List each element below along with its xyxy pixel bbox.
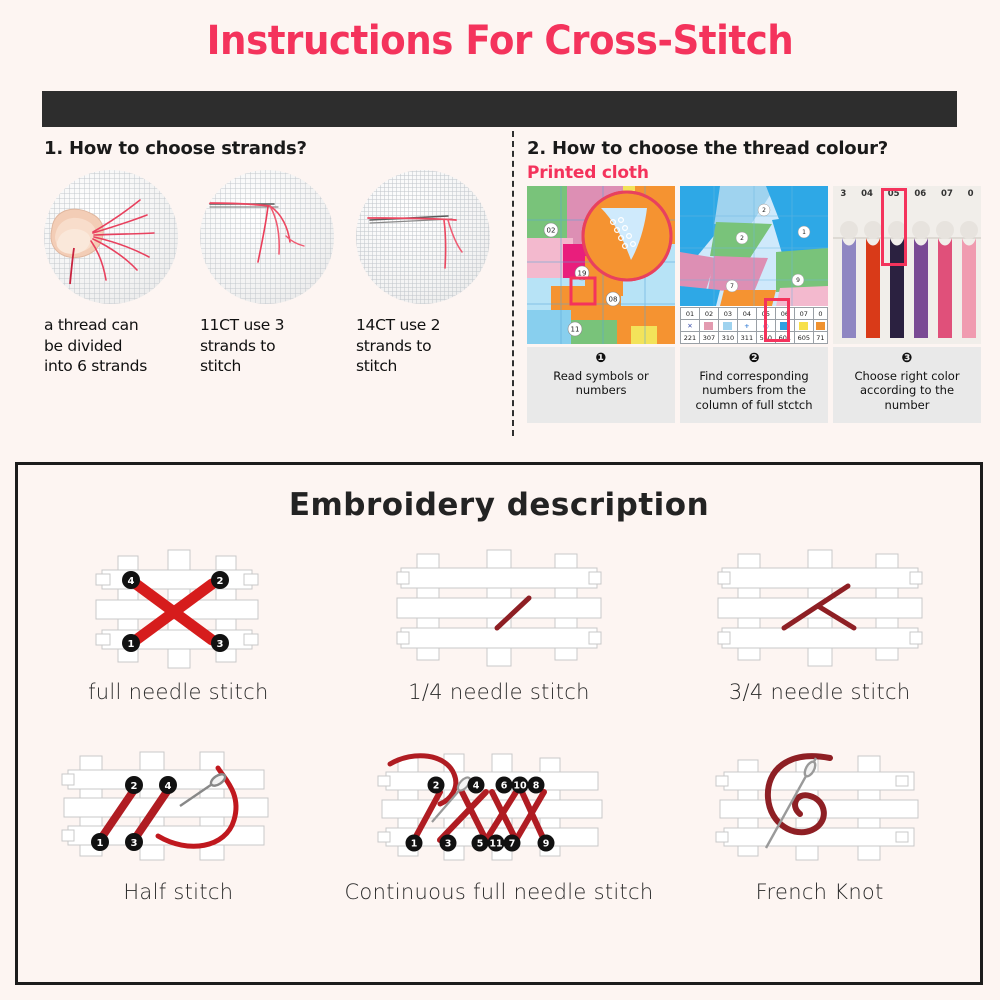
legend-index-cell: 04 xyxy=(737,308,756,320)
svg-text:7: 7 xyxy=(730,283,734,290)
svg-text:2: 2 xyxy=(762,207,766,214)
skein-body xyxy=(914,238,928,338)
french-knot-icon xyxy=(710,741,930,876)
stitch-caption-three-quarter-needle: 3/4 needle stitch xyxy=(729,680,911,704)
half-stitch-icon: 2 4 1 3 xyxy=(58,741,298,876)
three-strands-on-aida-icon xyxy=(200,170,334,304)
skein-highlight-box xyxy=(881,188,907,266)
svg-text:9: 9 xyxy=(543,838,550,849)
svg-text:2: 2 xyxy=(131,781,138,792)
legend-symbol-cell: ✕ xyxy=(681,320,700,332)
printed-cloth-label: Printed cloth xyxy=(527,163,649,183)
svg-text:7: 7 xyxy=(509,838,516,849)
skein-body xyxy=(962,238,976,338)
svg-text:1: 1 xyxy=(128,639,135,650)
stitch-card-quarter-needle-stitch: 1/4 needle stitch xyxy=(339,541,660,741)
skein-body xyxy=(938,238,952,338)
legend-number-cell: 310 xyxy=(718,332,737,344)
skein-label: 04 xyxy=(861,189,873,199)
skein-knob xyxy=(840,221,858,239)
step-number-3: ❸ xyxy=(901,352,912,365)
stitch-caption-french-knot: French Knot xyxy=(756,880,884,904)
strand-examples: a thread can be divided into 6 strands xyxy=(44,170,494,377)
skein-label: 07 xyxy=(941,189,953,199)
svg-text:2: 2 xyxy=(433,780,440,791)
svg-text:19: 19 xyxy=(578,270,587,278)
legend-index-row: 010203040506070 xyxy=(681,308,828,320)
legend-symbol-cell xyxy=(794,320,813,332)
legend-number-row: 22130731031155060160571 xyxy=(681,332,828,344)
step-text-3: Choose right color according to the numb… xyxy=(833,369,981,412)
stitch-caption-half-stitch: Half stitch xyxy=(123,880,233,904)
skein-label: 06 xyxy=(914,189,926,199)
skein-knob xyxy=(936,221,954,239)
continuous-full-needle-stitch-icon: 2 4 6 10 8 1 3 5 11 7 9 xyxy=(374,741,624,876)
skein-body xyxy=(866,238,880,338)
stitch-caption-full-needle: full needle stitch xyxy=(88,680,268,704)
symbol-legend-chart-icon: 2 2 1 7 9 010203040506070 ✕+○ 2213073103… xyxy=(680,186,828,344)
legend-index-cell: 0 xyxy=(813,308,827,320)
legend-number-cell: 71 xyxy=(813,332,827,344)
svg-text:10: 10 xyxy=(513,780,527,791)
stitch-card-french-knot: French Knot xyxy=(659,741,980,941)
legend-index-cell: 02 xyxy=(699,308,718,320)
strand-caption-3: 14CT use 2 strands to stitch xyxy=(356,315,490,377)
svg-text:9: 9 xyxy=(796,277,800,284)
svg-text:08: 08 xyxy=(609,296,618,304)
legend-symbol-cell xyxy=(718,320,737,332)
header-dark-bar xyxy=(42,91,957,127)
section-divider xyxy=(512,131,514,436)
svg-text:11: 11 xyxy=(489,838,502,849)
svg-text:5: 5 xyxy=(477,838,484,849)
stitch-card-continuous-full-needle-stitch: 2 4 6 10 8 1 3 5 11 7 9 xyxy=(339,741,660,941)
svg-text:11: 11 xyxy=(571,326,580,334)
embroidery-description-panel: Embroidery description xyxy=(15,462,983,985)
legend-symbol-cell: + xyxy=(737,320,756,332)
thread-step-2: 2 2 1 7 9 010203040506070 ✕+○ 2213073103… xyxy=(680,186,828,423)
strand-caption-2: 11CT use 3 strands to stitch xyxy=(200,315,334,377)
legend-number-cell: 311 xyxy=(737,332,756,344)
legend-index-cell: 03 xyxy=(718,308,737,320)
step-number-1: ❶ xyxy=(595,352,606,365)
strand-item-2: 11CT use 3 strands to stitch xyxy=(200,170,334,377)
svg-text:2: 2 xyxy=(217,576,224,587)
quarter-needle-stitch-icon xyxy=(389,541,609,676)
svg-text:1: 1 xyxy=(411,838,418,849)
svg-text:8: 8 xyxy=(533,780,540,791)
legend-number-cell: 307 xyxy=(699,332,718,344)
page-title: Instructions For Cross-Stitch xyxy=(35,18,965,64)
svg-text:3: 3 xyxy=(131,838,138,849)
svg-text:3: 3 xyxy=(217,639,224,650)
thread-colour-steps: 02 19 08 11 ❶ Read symbols or numbers xyxy=(527,186,982,423)
skein-label: 0 xyxy=(968,189,974,199)
section2-heading: 2. How to choose the thread colour? xyxy=(527,138,888,159)
stitch-grid: 4 2 1 3 full needle stitch xyxy=(18,541,980,941)
strand-item-1: a thread can be divided into 6 strands xyxy=(44,170,178,377)
legend-colour-swatch xyxy=(704,322,713,330)
section1-heading: 1. How to choose strands? xyxy=(44,138,307,159)
thread-step-3-caption: ❸ Choose right color according to the nu… xyxy=(833,347,981,423)
two-strands-on-aida-icon xyxy=(356,170,490,304)
legend-index-cell: 07 xyxy=(794,308,813,320)
step-number-2: ❷ xyxy=(748,352,759,365)
svg-text:1: 1 xyxy=(97,838,104,849)
stitch-caption-continuous-full-needle: Continuous full needle stitch xyxy=(344,880,653,904)
embroidery-title: Embroidery description xyxy=(18,487,980,523)
svg-text:2: 2 xyxy=(740,235,744,242)
svg-text:1: 1 xyxy=(802,229,806,236)
instruction-sheet: Instructions For Cross-Stitch 1. How to … xyxy=(0,0,1000,1000)
legend-symbol-cell xyxy=(813,320,827,332)
legend-colour-swatch xyxy=(799,322,808,330)
legend-symbol-cell xyxy=(699,320,718,332)
svg-text:4: 4 xyxy=(128,576,135,587)
legend-number-cell: 221 xyxy=(681,332,700,344)
skein-body xyxy=(842,238,856,338)
thread-step-1: 02 19 08 11 ❶ Read symbols or numbers xyxy=(527,186,675,423)
strand-caption-1: a thread can be divided into 6 strands xyxy=(44,315,178,377)
svg-text:3: 3 xyxy=(445,838,452,849)
legend-symbol-row: ✕+○ xyxy=(681,320,828,332)
strand-item-3: 14CT use 2 strands to stitch xyxy=(356,170,490,377)
three-quarter-needle-stitch-icon xyxy=(710,541,930,676)
full-needle-stitch-icon: 4 2 1 3 xyxy=(88,541,268,676)
skein-knob xyxy=(864,221,882,239)
legend-colour-swatch xyxy=(816,322,825,330)
stitch-caption-quarter-needle: 1/4 needle stitch xyxy=(408,680,590,704)
step-text-2: Find corresponding numbers from the colu… xyxy=(680,369,828,412)
svg-text:02: 02 xyxy=(547,227,556,235)
printed-chart-magnifier-icon: 02 19 08 11 xyxy=(527,186,675,344)
thread-step-2-caption: ❷ Find corresponding numbers from the co… xyxy=(680,347,828,423)
symbol-legend-table: 010203040506070 ✕+○ 22130731031155060160… xyxy=(680,307,828,344)
stitch-card-half-stitch: 2 4 1 3 Half stitch xyxy=(18,741,339,941)
skein-labels: 3040506070 xyxy=(833,189,981,199)
svg-text:4: 4 xyxy=(165,781,172,792)
skein-knob xyxy=(960,221,978,239)
legend-index-cell: 01 xyxy=(681,308,700,320)
stitch-card-full-needle-stitch: 4 2 1 3 full needle stitch xyxy=(18,541,339,741)
stitch-card-three-quarter-needle-stitch: 3/4 needle stitch xyxy=(659,541,980,741)
svg-text:6: 6 xyxy=(501,780,508,791)
fingers-splitting-thread-icon xyxy=(44,170,178,304)
legend-colour-swatch xyxy=(723,322,732,330)
skein-label: 3 xyxy=(840,189,846,199)
svg-text:4: 4 xyxy=(473,780,480,791)
step-text-1: Read symbols or numbers xyxy=(527,369,675,398)
legend-highlight-box xyxy=(764,298,790,342)
skein-knob xyxy=(912,221,930,239)
thread-step-1-caption: ❶ Read symbols or numbers xyxy=(527,347,675,423)
legend-number-cell: 605 xyxy=(794,332,813,344)
thread-step-3: 3040506070 ❸ Choose right color accordin… xyxy=(833,186,981,423)
thread-skeins-icon: 3040506070 xyxy=(833,186,981,344)
